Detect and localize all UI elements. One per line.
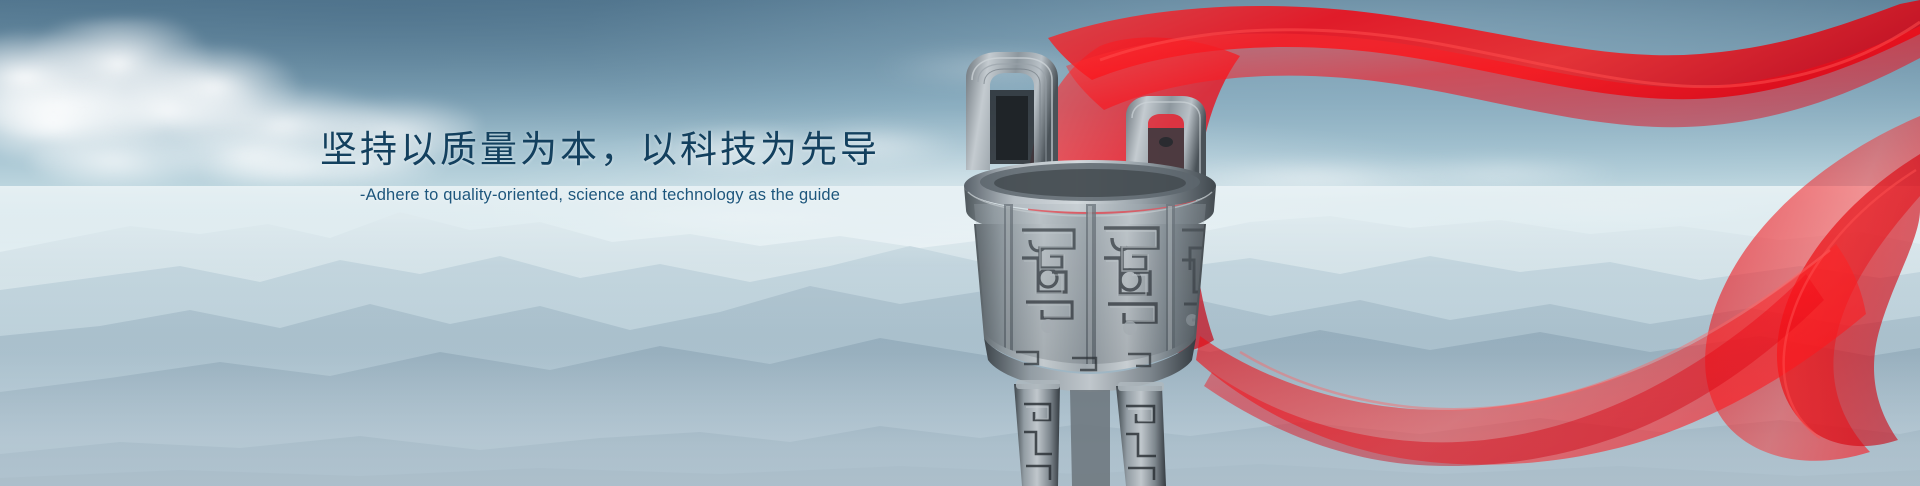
banner-headline: 坚持以质量为本，以科技为先导	[0, 128, 1200, 172]
banner-copy: 坚持以质量为本，以科技为先导 -Adhere to quality-orient…	[0, 128, 1200, 205]
bronze-ding-vessel	[930, 34, 1250, 486]
ding-body	[930, 194, 1250, 392]
ding-legs	[1014, 380, 1166, 486]
banner-subtitle: -Adhere to quality-oriented, science and…	[0, 186, 1200, 205]
hero-banner: 坚持以质量为本，以科技为先导 -Adhere to quality-orient…	[0, 0, 1920, 486]
